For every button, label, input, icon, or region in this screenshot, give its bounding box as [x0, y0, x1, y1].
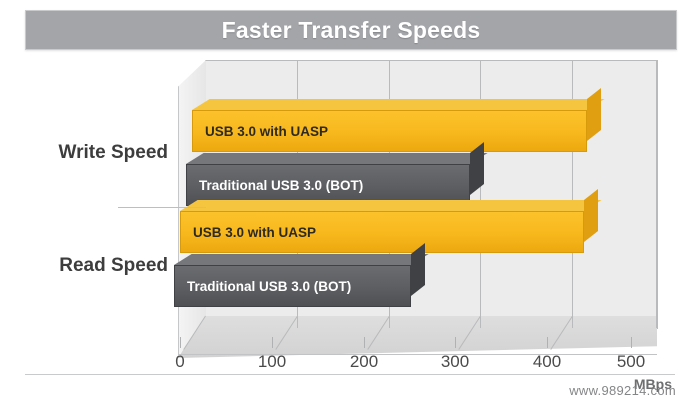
plot-floor-edge [178, 354, 657, 355]
xtick-mark-100 [272, 337, 273, 348]
plot-floor [178, 316, 657, 358]
bar-read-bot[interactable]: Traditional USB 3.0 (BOT) [174, 265, 411, 307]
category-label-read-speed: Read Speed [18, 255, 168, 277]
bar-top-face [180, 200, 602, 211]
bar-label-read-bot: Traditional USB 3.0 (BOT) [175, 279, 351, 294]
xtick-label-300: 300 [441, 352, 469, 372]
bar-front-face: Traditional USB 3.0 (BOT) [174, 265, 411, 307]
category-divider [118, 207, 206, 208]
chart-title-banner: Faster Transfer Speeds [25, 10, 677, 50]
xtick-label-100: 100 [258, 352, 286, 372]
xtick-label-400: 400 [533, 352, 561, 372]
gridline-500 [656, 60, 657, 328]
axis-baseline [25, 374, 675, 375]
plot-area: USB 3.0 with UASP Traditional USB 3.0 (B… [0, 48, 700, 348]
bar-label-read-uasp: USB 3.0 with UASP [181, 225, 316, 240]
watermark: www.989214.com [569, 383, 676, 398]
xtick-mark-200 [364, 337, 365, 348]
xtick-mark-300 [455, 337, 456, 348]
xtick-mark-400 [547, 337, 548, 348]
chart-root: Faster Transfer Speeds USB 3.0 with UASP [0, 0, 700, 400]
category-label-write-speed: Write Speed [18, 142, 168, 164]
bar-label-write-bot: Traditional USB 3.0 (BOT) [187, 178, 363, 193]
bar-label-write-uasp: USB 3.0 with UASP [193, 124, 328, 139]
bar-front-face: USB 3.0 with UASP [180, 211, 584, 253]
xtick-label-0: 0 [175, 352, 184, 372]
bar-front-face: USB 3.0 with UASP [192, 110, 587, 152]
bar-write-uasp[interactable]: USB 3.0 with UASP [192, 110, 587, 152]
xtick-mark-500 [631, 337, 632, 348]
bar-top-face [186, 153, 488, 164]
bar-read-uasp[interactable]: USB 3.0 with UASP [180, 211, 584, 253]
xtick-label-500: 500 [617, 352, 645, 372]
xtick-label-200: 200 [350, 352, 378, 372]
xtick-mark-0 [180, 337, 181, 348]
bar-top-face [192, 99, 605, 110]
page-title: Faster Transfer Speeds [222, 17, 481, 44]
bar-top-face [174, 254, 429, 265]
